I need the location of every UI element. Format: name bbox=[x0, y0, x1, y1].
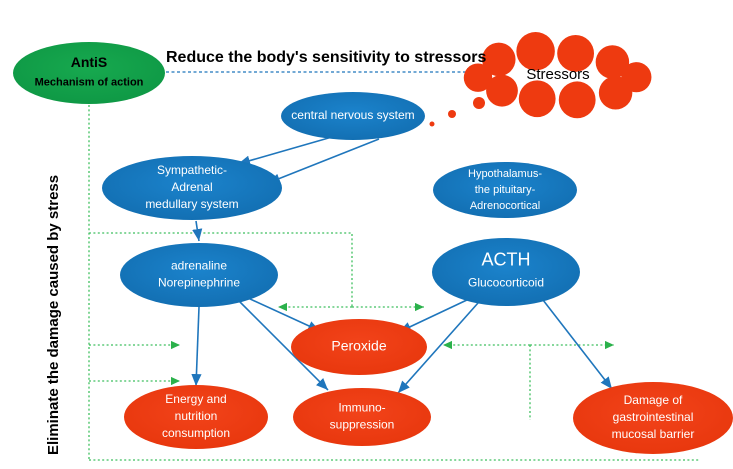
node-label-adrenaline: Norepinephrine bbox=[158, 276, 240, 290]
node-label-gi-damage: mucosal barrier bbox=[612, 427, 695, 441]
node-label-hpa: Adrenocortical bbox=[470, 200, 540, 212]
blue-arrow bbox=[238, 137, 332, 164]
ellipse-shape bbox=[13, 42, 165, 104]
node-immuno[interactable]: Immuno-suppression bbox=[293, 388, 431, 446]
node-label-acth: ACTH bbox=[482, 249, 531, 269]
node-label-gi-damage: gastrointestinal bbox=[613, 410, 694, 424]
blue-arrow bbox=[196, 221, 199, 241]
node-label-energy: consumption bbox=[162, 426, 230, 440]
node-label-stressors: Stressors bbox=[526, 66, 589, 83]
top-banner-label: Reduce the body's sensitivity to stresso… bbox=[166, 49, 486, 66]
node-peroxide[interactable]: Peroxide bbox=[291, 319, 427, 375]
ellipse-shape bbox=[432, 238, 580, 306]
node-label-adrenaline: adrenaline bbox=[171, 259, 227, 273]
node-label-energy: Energy and bbox=[165, 392, 226, 406]
red-dot-group bbox=[430, 97, 486, 127]
stress-mechanism-diagram: AntiSMechanism of actionStressorscentral… bbox=[0, 0, 733, 469]
node-antis[interactable]: AntiSMechanism of action bbox=[13, 42, 165, 104]
node-label-antis: Mechanism of action bbox=[35, 76, 144, 88]
node-cns[interactable]: central nervous system bbox=[281, 92, 425, 140]
node-energy[interactable]: Energy andnutritionconsumption bbox=[124, 385, 268, 449]
node-label-sam: Adrenal bbox=[171, 180, 212, 194]
node-label-energy: nutrition bbox=[175, 409, 218, 423]
node-label-immuno: Immuno- bbox=[338, 401, 385, 415]
blue-arrow bbox=[248, 298, 320, 331]
node-label-gi-damage: Damage of bbox=[624, 393, 683, 407]
node-acth[interactable]: ACTHGlucocorticoid bbox=[432, 238, 580, 306]
node-label-acth: Glucocorticoid bbox=[468, 276, 544, 290]
red-dot-marker bbox=[448, 110, 456, 118]
node-group: AntiSMechanism of actionStressorscentral… bbox=[13, 32, 733, 454]
diagram-canvas: AntiSMechanism of actionStressorscentral… bbox=[0, 0, 733, 469]
blue-arrow bbox=[399, 299, 469, 332]
node-label-peroxide: Peroxide bbox=[331, 338, 386, 354]
node-label-antis: AntiS bbox=[71, 54, 108, 70]
red-dot-marker bbox=[473, 97, 485, 109]
node-sam[interactable]: Sympathetic-Adrenalmedullary system bbox=[102, 156, 282, 220]
node-label-hpa: the pituitary- bbox=[475, 184, 536, 196]
node-gi-damage[interactable]: Damage ofgastrointestinalmucosal barrier bbox=[573, 382, 733, 454]
blue-arrow bbox=[268, 139, 379, 183]
node-label-cns: central nervous system bbox=[291, 108, 414, 122]
red-dot-marker bbox=[430, 122, 435, 127]
node-label-hpa: Hypothalamus- bbox=[468, 168, 542, 180]
side-banner-label: Eliminate the damage caused by stress bbox=[45, 175, 62, 455]
node-stressors[interactable]: Stressors bbox=[464, 32, 652, 118]
node-label-immuno: suppression bbox=[330, 418, 395, 432]
node-label-sam: medullary system bbox=[145, 197, 238, 211]
node-adrenaline[interactable]: adrenalineNorepinephrine bbox=[120, 243, 278, 307]
blue-arrow bbox=[196, 307, 199, 386]
node-label-sam: Sympathetic- bbox=[157, 163, 227, 177]
node-hpa[interactable]: Hypothalamus-the pituitary-Adrenocortica… bbox=[433, 162, 577, 218]
